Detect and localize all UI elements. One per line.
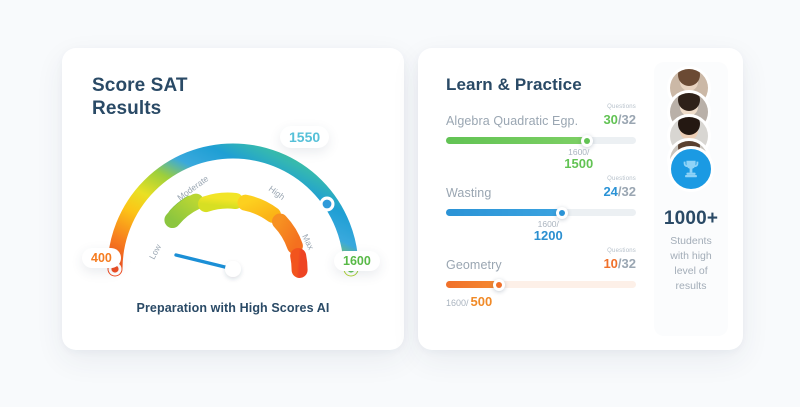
screenshot-root: Score SAT Results bbox=[0, 0, 800, 407]
progress-knob[interactable] bbox=[581, 135, 593, 147]
questions-value: 30/32 bbox=[603, 112, 636, 127]
gauge-min-pill: 400 bbox=[82, 248, 121, 268]
trophy-icon bbox=[680, 158, 702, 180]
gauge-label-max: Max bbox=[300, 232, 316, 251]
progress-score: 1600/ 1200 bbox=[446, 218, 636, 248]
progress-current-score: 500 bbox=[471, 294, 493, 309]
progress-fill bbox=[446, 209, 564, 216]
questions-caption: Questions bbox=[603, 247, 636, 256]
gauge-max-pill: 1600 bbox=[334, 251, 380, 271]
questions-total: 32 bbox=[622, 184, 636, 199]
gauge-segment-high bbox=[280, 222, 295, 247]
questions-answered: 10 bbox=[603, 256, 617, 271]
practice-row-header: Wasting Questions 24/32 bbox=[446, 182, 636, 206]
practice-row[interactable]: Geometry Questions 10/32 1600/500 bbox=[446, 254, 636, 320]
progress-max-score: 1600/ bbox=[446, 298, 469, 308]
practice-row-header: Algebra Quadratic Egp. Questions 30/32 bbox=[446, 110, 636, 134]
practice-row[interactable]: Algebra Quadratic Egp. Questions 30/32 1… bbox=[446, 110, 636, 176]
practice-row-label: Wasting bbox=[446, 186, 491, 200]
practice-rows-list: Algebra Quadratic Egp. Questions 30/32 1… bbox=[446, 110, 636, 326]
progress-fill bbox=[446, 137, 592, 144]
questions-total: 32 bbox=[622, 256, 636, 271]
practice-row-label: Geometry bbox=[446, 258, 502, 272]
progress-current-score: 1500 bbox=[564, 158, 593, 170]
trophy-badge bbox=[668, 146, 714, 192]
gauge-segment-4 bbox=[246, 203, 274, 215]
progress-track[interactable] bbox=[446, 209, 636, 216]
gauge-value-pill: 1550 bbox=[280, 126, 329, 148]
score-sat-results-card: Score SAT Results bbox=[62, 48, 404, 350]
questions-counter: Questions 30/32 bbox=[603, 103, 636, 127]
progress-fill bbox=[446, 281, 499, 288]
questions-counter: Questions 24/32 bbox=[603, 175, 636, 199]
practice-row[interactable]: Wasting Questions 24/32 1600/ 1200 bbox=[446, 182, 636, 248]
students-description: Students with high level of results bbox=[662, 234, 720, 294]
questions-value: 10/32 bbox=[603, 256, 636, 271]
progress-knob[interactable] bbox=[493, 279, 505, 291]
progress-score: 1600/ 1500 bbox=[446, 146, 636, 176]
learn-practice-card: Learn & Practice Algebra Quadratic Egp. … bbox=[418, 48, 743, 350]
questions-caption: Questions bbox=[603, 103, 636, 112]
gauge-label-low: Low bbox=[147, 242, 164, 261]
progress-track[interactable] bbox=[446, 281, 636, 288]
gauge-segment-max bbox=[298, 256, 299, 270]
learn-practice-title: Learn & Practice bbox=[446, 75, 582, 95]
gauge-marker-value bbox=[320, 197, 335, 212]
score-card-caption: Preparation with High Scores AI bbox=[62, 301, 404, 315]
gauge-segment-moderate bbox=[206, 201, 236, 205]
questions-answered: 30 bbox=[603, 112, 617, 127]
progress-track[interactable] bbox=[446, 137, 636, 144]
students-stat-panel: 1000+ Students with high level of result… bbox=[654, 62, 728, 336]
questions-total: 32 bbox=[622, 112, 636, 127]
questions-caption: Questions bbox=[603, 175, 636, 184]
questions-answered: 24 bbox=[603, 184, 617, 199]
progress-score: 1600/500 bbox=[446, 290, 636, 320]
gauge-needle bbox=[176, 255, 241, 277]
progress-knob[interactable] bbox=[556, 207, 568, 219]
questions-value: 24/32 bbox=[603, 184, 636, 199]
practice-row-header: Geometry Questions 10/32 bbox=[446, 254, 636, 278]
gauge-label-high: High bbox=[267, 184, 287, 203]
practice-row-label: Algebra Quadratic Egp. bbox=[446, 114, 578, 128]
progress-current-score: 1200 bbox=[534, 230, 563, 242]
students-count: 1000+ bbox=[654, 208, 728, 230]
questions-counter: Questions 10/32 bbox=[603, 247, 636, 271]
